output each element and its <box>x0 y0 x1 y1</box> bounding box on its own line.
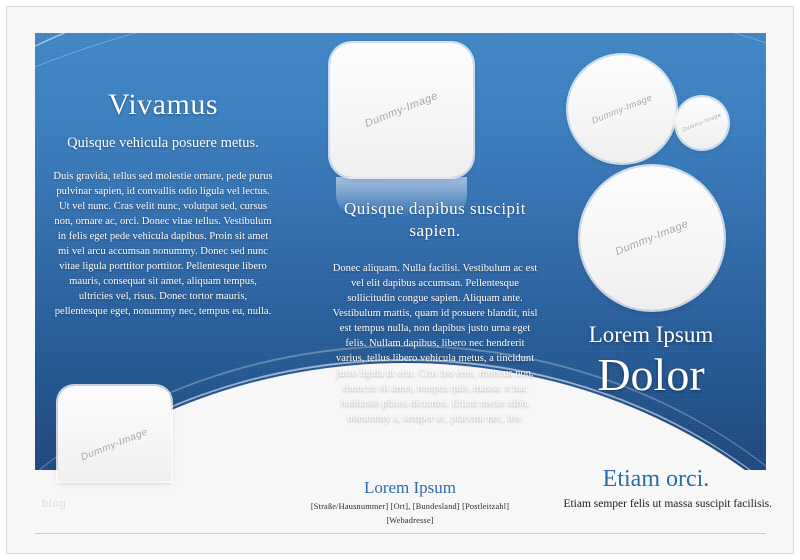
footer-right-title: Etiam orci. <box>540 466 772 493</box>
left-column-subtitle: Quisque vehicula posuere metus. <box>52 134 274 153</box>
right-headline-line2: Dolor <box>536 349 766 401</box>
dummy-image-label: Dummy-Image <box>570 84 674 134</box>
center-column-body: Donec aliquam. Nulla facilisi. Vestibulu… <box>330 261 540 426</box>
footer-web-line: [Webadresse] <box>260 516 560 525</box>
footer-right-block: Etiam orci. Etiam semper felis ut massa … <box>540 466 772 512</box>
placeholder-image-center-square[interactable]: Dummy-Image <box>330 43 473 177</box>
placeholder-image-bottom-left[interactable]: Dummy-Image <box>58 386 171 481</box>
left-text-column: Vivamus Quisque vehicula posuere metus. … <box>52 88 274 319</box>
right-headline-line1: Lorem Ipsum <box>536 322 766 347</box>
blog-watermark: blog <box>42 498 67 510</box>
footer-center-block: Lorem Ipsum [Straße/Hausnummer] [Ort], [… <box>260 478 560 530</box>
dummy-image-label: Dummy-Image <box>60 419 169 472</box>
dummy-image-label: Dummy-Image <box>677 110 727 135</box>
placeholder-image-circle-small[interactable]: Dummy-Image <box>676 97 728 149</box>
right-headline-lockup: Lorem Ipsum Dolor <box>536 322 766 401</box>
brochure-page: Dummy-Image Dummy-Image Dummy-Image Dumm… <box>0 0 800 560</box>
left-column-body: Duis gravida, tellus sed molestie ornare… <box>52 169 274 319</box>
placeholder-image-circle-huge[interactable]: Dummy-Image <box>580 166 724 310</box>
placeholder-image-circle-large[interactable]: Dummy-Image <box>568 55 676 163</box>
center-text-column: Quisque dapibus suscipit sapien. Donec a… <box>330 198 540 426</box>
dummy-image-label: Dummy-Image <box>583 205 721 270</box>
footer-address-line: [Straße/Hausnummer] [Ort], [Bundesland] … <box>260 502 560 511</box>
footer-divider-rule <box>35 533 766 534</box>
footer-right-subtitle: Etiam semper felis ut massa suscipit fac… <box>540 497 772 512</box>
footer-company-name: Lorem Ipsum <box>260 478 560 498</box>
center-column-title: Quisque dapibus suscipit sapien. <box>330 198 540 243</box>
left-column-title: Vivamus <box>52 88 274 122</box>
dummy-image-label: Dummy-Image <box>333 78 470 143</box>
